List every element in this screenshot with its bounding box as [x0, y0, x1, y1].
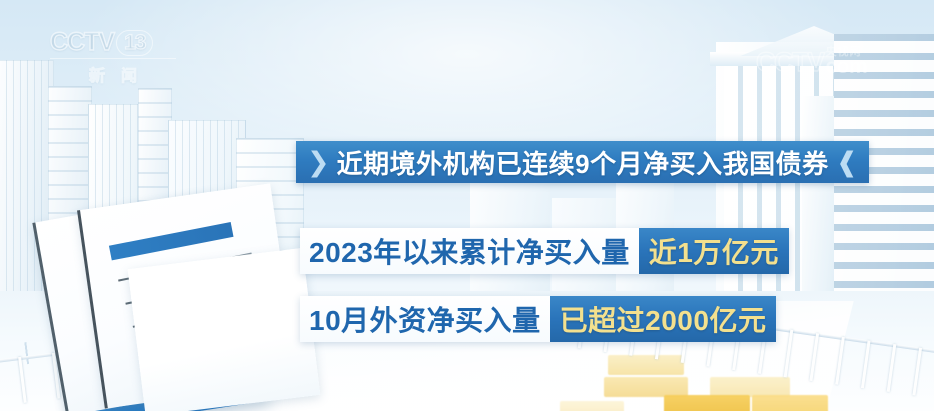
- chevron-right-icon: ❯: [300, 149, 337, 176]
- headline-stat-value-box: 已超过2000亿元: [550, 296, 777, 342]
- headline-stat-label: 10月外资净买入量: [309, 299, 541, 339]
- headline-stat-row: 10月外资净买入量 已超过2000亿元: [300, 296, 776, 342]
- headline-stat-value: 近1万亿元: [649, 231, 779, 271]
- headline-stat-label-box: 10月外资净买入量: [300, 296, 550, 342]
- headline-banner-text: 近期境外机构已连续9个月净买入我国债券: [337, 144, 829, 181]
- broadcast-screenshot: CCTV 13 新 闻 CCTV 央视网 com ❯ 近期境外机构已连续9个月净…: [0, 0, 934, 411]
- headline-stat-label: 2023年以来累计净买入量: [309, 231, 630, 271]
- chevron-left-icon: ❰: [829, 149, 866, 176]
- headline-stat-row: 2023年以来累计净买入量 近1万亿元: [300, 228, 789, 274]
- headline-stat-label-box: 2023年以来累计净买入量: [300, 228, 639, 274]
- headline-banner-primary: ❯ 近期境外机构已连续9个月净买入我国债券 ❰: [296, 141, 869, 183]
- headline-stat-value-box: 近1万亿元: [639, 228, 789, 274]
- headline-group: ❯ 近期境外机构已连续9个月净买入我国债券 ❰ 2023年以来累计净买入量 近1…: [0, 0, 934, 411]
- headline-stat-value: 已超过2000亿元: [560, 299, 767, 339]
